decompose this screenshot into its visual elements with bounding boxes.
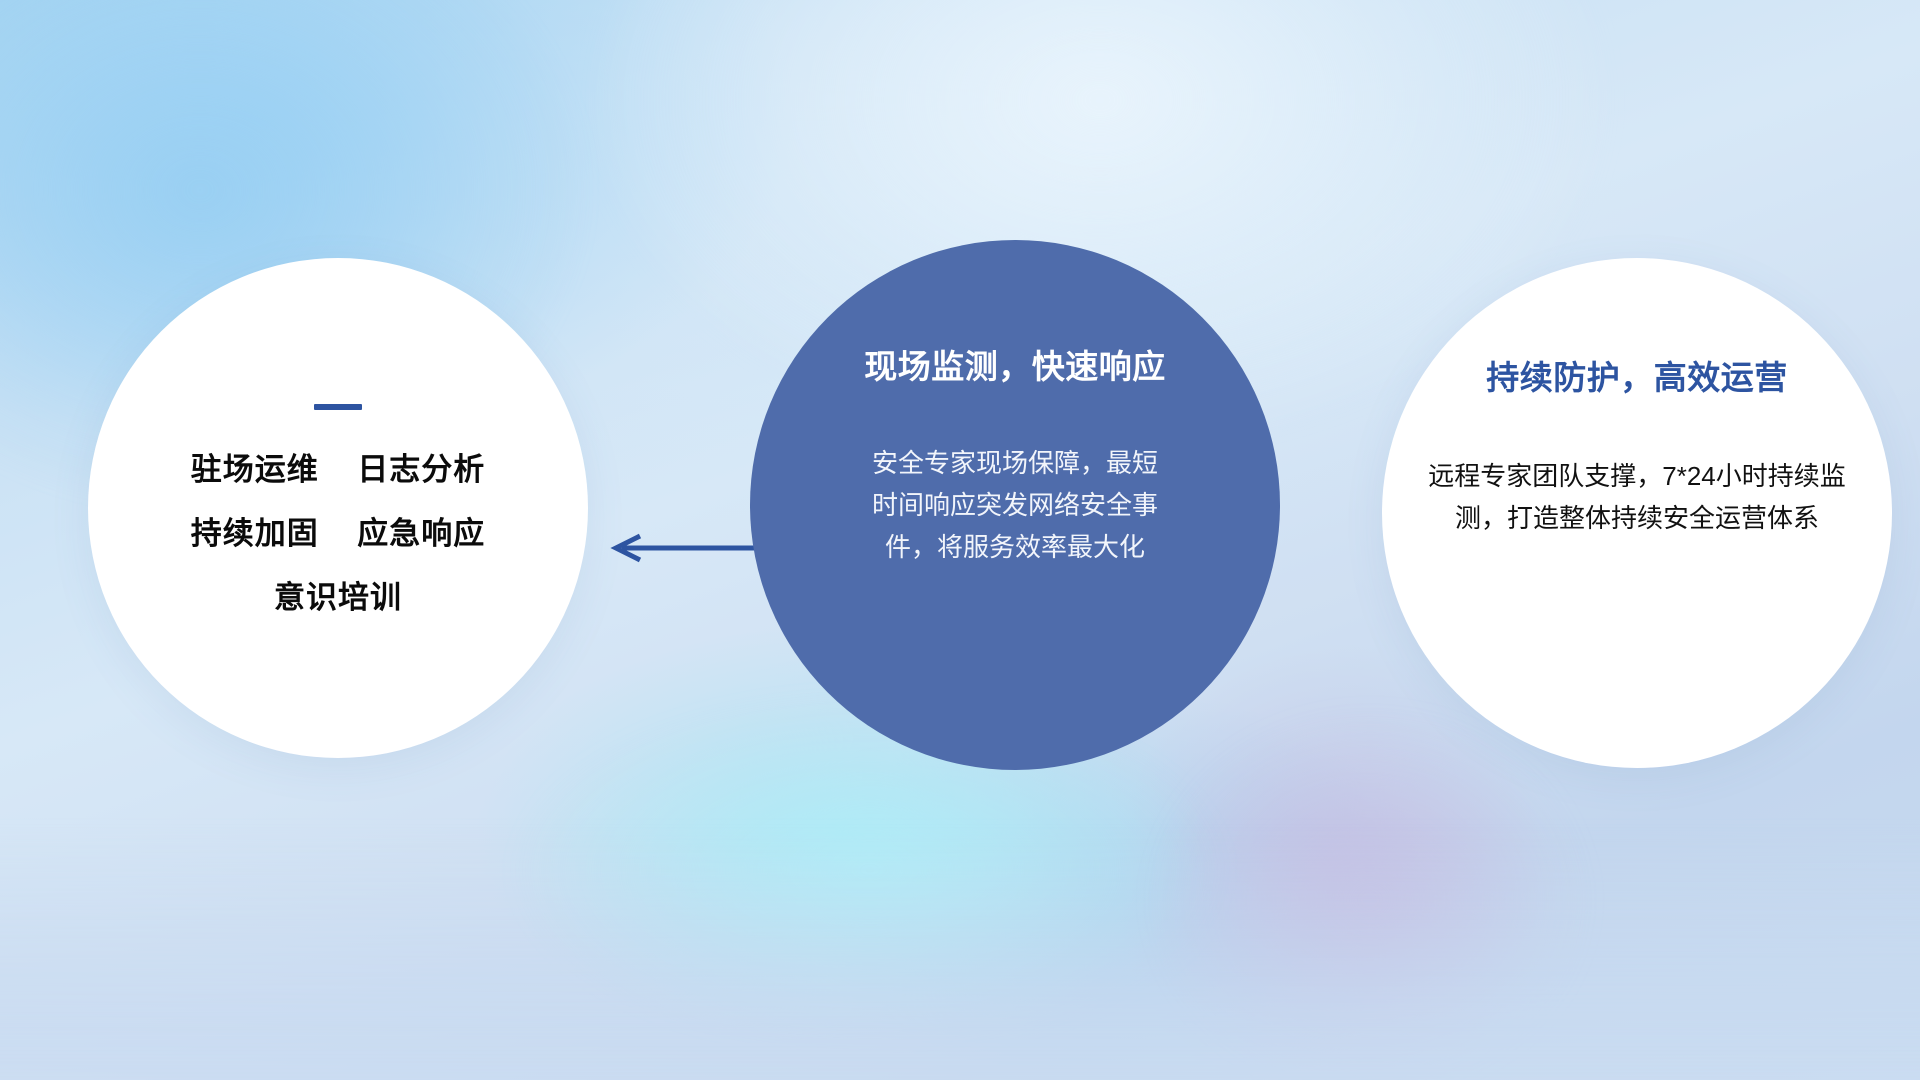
slide-canvas: 驻场运维 日志分析 持续加固 应急响应 意识培训 现场监测，快速响应 安全专家现… <box>0 0 1920 1080</box>
onsite-monitoring-circle[interactable] <box>750 240 1280 770</box>
service-capability-content: 驻场运维 日志分析 持续加固 应急响应 意识培训 <box>88 258 588 758</box>
list-item: 意识培训 <box>191 582 485 613</box>
horizontal-dash-icon <box>314 404 362 410</box>
background-glow-bottom-band <box>0 830 1920 1080</box>
service-capability-tag-list: 驻场运维 日志分析 持续加固 应急响应 意识培训 <box>191 454 485 613</box>
list-item: 持续加固 应急响应 <box>191 518 485 549</box>
list-item: 驻场运维 日志分析 <box>191 454 485 485</box>
background-glow-cyan <box>520 700 1220 1040</box>
continuous-protection-circle[interactable] <box>1382 258 1892 768</box>
background-glow-lavender <box>1160 720 1580 1080</box>
